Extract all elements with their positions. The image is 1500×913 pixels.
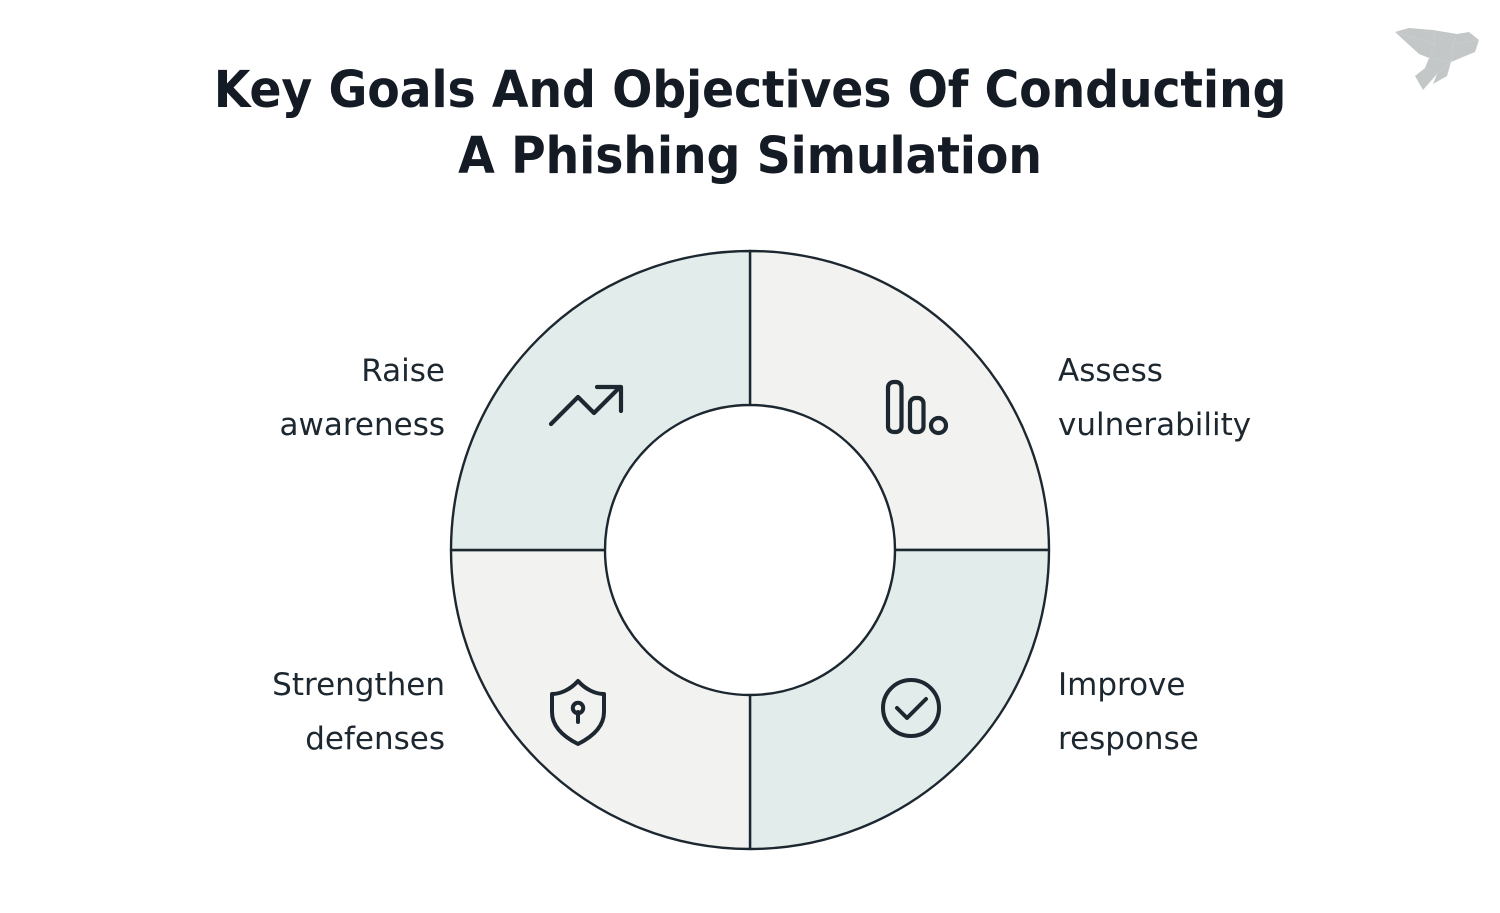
- label-strengthen-defenses: Strengthen defenses: [60, 658, 445, 766]
- segment-raise-awareness[interactable]: [451, 251, 750, 550]
- label-raise-awareness: Raise awareness: [60, 344, 445, 452]
- label-improve-response-line-2: response: [1058, 712, 1478, 766]
- segment-improve-response[interactable]: [750, 550, 1049, 849]
- label-assess-vulnerability: Assess vulnerability: [1058, 344, 1478, 452]
- label-strengthen-defenses-line-1: Strengthen: [60, 658, 445, 712]
- label-raise-awareness-line-1: Raise: [60, 344, 445, 398]
- label-raise-awareness-line-2: awareness: [60, 398, 445, 452]
- label-assess-vulnerability-line-2: vulnerability: [1058, 398, 1478, 452]
- donut-diagram: [0, 0, 1500, 913]
- segment-strengthen-defenses[interactable]: [451, 550, 750, 849]
- label-improve-response-line-1: Improve: [1058, 658, 1478, 712]
- label-assess-vulnerability-line-1: Assess: [1058, 344, 1478, 398]
- label-improve-response: Improve response: [1058, 658, 1478, 766]
- label-strengthen-defenses-line-2: defenses: [60, 712, 445, 766]
